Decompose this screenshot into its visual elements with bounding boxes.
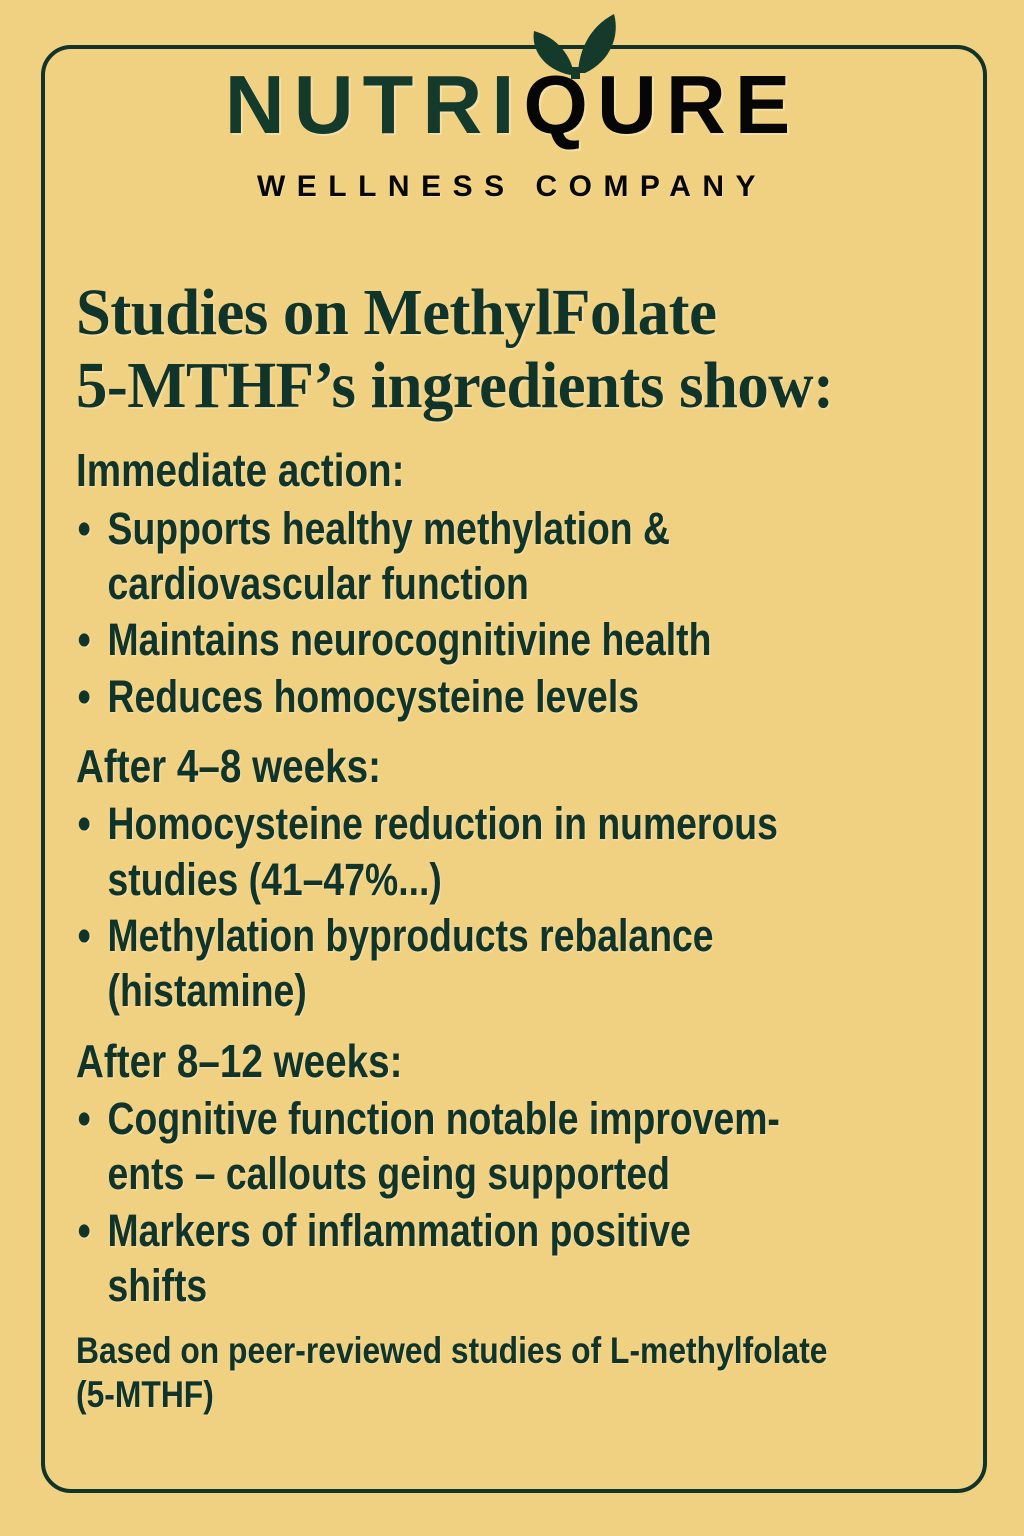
brand-tagline: WELLNESS COMPANY (0, 170, 1024, 204)
list-item: Supports healthy methylation & cardiovas… (76, 501, 984, 612)
section-immediate-action: Immediate action: Supports healthy methy… (76, 444, 956, 724)
bullet-line-2: cardiovascular function (108, 556, 984, 611)
poster-content: Studies on MethylFolate 5-MTHF’s ingredi… (76, 277, 956, 1416)
bullet-line-2: studies (41–47%...) (108, 852, 984, 907)
bullet-list: Supports healthy methylation & cardiovas… (76, 501, 956, 724)
list-item: Methylation byproducts rebalance (histam… (76, 908, 984, 1019)
wordmark-nutri: NUTRI (225, 58, 524, 151)
leaf-sprout-icon (521, 11, 631, 79)
bullet-line-2: ents – callouts geing supported (108, 1146, 984, 1201)
bullet-line-1: Cognitive function notable improvem- (108, 1093, 780, 1144)
bullet-line-1: Homocysteine reduction in numerous (108, 798, 778, 849)
section-heading: After 8–12 weeks: (76, 1035, 815, 1088)
list-item: Reduces homocysteine levels (76, 669, 984, 724)
brand-logo: NUTRIQURE WELLNESS COMPANY (0, 63, 1024, 204)
supplement-info-poster: NUTRIQURE WELLNESS COMPANY Studies on Me… (0, 0, 1024, 1536)
headline-line-2: 5-MTHF’s ingredients show: (76, 350, 912, 423)
page-title: Studies on MethylFolate 5-MTHF’s ingredi… (76, 277, 912, 422)
section-heading: Immediate action: (76, 444, 815, 497)
section-after-8-12-weeks: After 8–12 weeks: Cognitive function not… (76, 1035, 956, 1314)
footnote-disclaimer: Based on peer-reviewed studies of L-meth… (76, 1329, 954, 1416)
headline-line-1: Studies on MethylFolate (76, 277, 912, 350)
bullet-list: Cognitive function notable improvem- ent… (76, 1091, 956, 1313)
footnote-line-1: Based on peer-reviewed studies of L-meth… (76, 1329, 954, 1372)
brand-wordmark: NUTRIQURE (225, 63, 799, 146)
section-after-4-8-weeks: After 4–8 weeks: Homocysteine reduction … (76, 740, 956, 1019)
bullet-line-1: Markers of inflammation positive (108, 1205, 691, 1256)
section-heading: After 4–8 weeks: (76, 740, 815, 793)
bullet-line-1: Methylation byproducts rebalance (108, 910, 714, 961)
footnote-line-2: (5-MTHF) (76, 1373, 954, 1416)
list-item: Markers of inflammation positive shifts (76, 1203, 984, 1314)
bullet-line-1: Reduces homocysteine levels (108, 671, 639, 722)
bullet-line-1: Supports healthy methylation & (108, 503, 670, 554)
list-item: Homocysteine reduction in numerous studi… (76, 796, 984, 907)
bullet-line-2: shifts (108, 1258, 984, 1313)
list-item: Maintains neurocognitivine health (76, 612, 984, 667)
bullet-list: Homocysteine reduction in numerous studi… (76, 796, 956, 1018)
bullet-line-1: Maintains neurocognitivine health (108, 614, 712, 665)
list-item: Cognitive function notable improvem- ent… (76, 1091, 984, 1202)
bullet-line-2: (histamine) (108, 963, 984, 1018)
